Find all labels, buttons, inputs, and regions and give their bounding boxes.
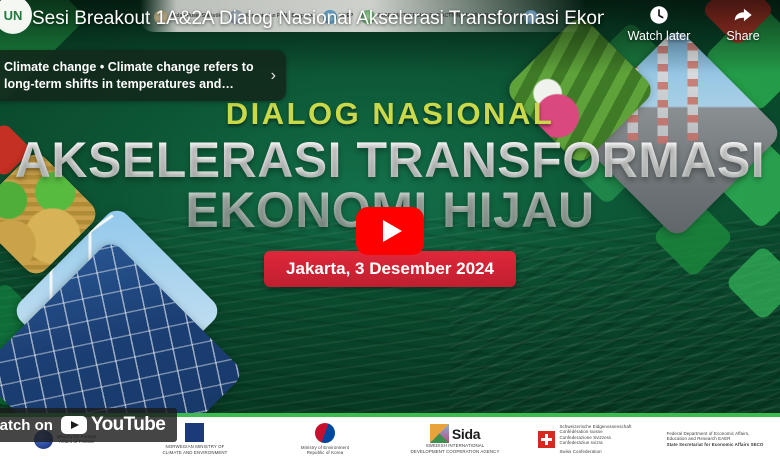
share-label: Share [726, 29, 759, 43]
sponsor-sida: Sida SWEDISH INTERNATIONAL DEVELOPMENT C… [390, 417, 520, 461]
poster-date-badge: Jakarta, 3 Desember 2024 [264, 251, 516, 287]
poster-eyebrow: DIALOG NASIONAL [0, 96, 780, 132]
info-card[interactable]: Climate change • Climate change refers t… [0, 50, 286, 101]
sponsor-label: State Secretariat for Economic Affairs S… [667, 442, 764, 448]
play-triangle-icon [383, 220, 402, 242]
sponsor-label: CLIMATE AND ENVIRONMENT [163, 450, 228, 456]
sponsor-label: NORWEGIAN MINISTRY OF [163, 444, 228, 450]
poster-text-block: DIALOG NASIONAL AKSELERASI TRANSFORMASI … [0, 96, 780, 287]
share-arrow-icon [732, 4, 754, 26]
norway-crest-icon [185, 423, 204, 442]
info-card-text: Climate change • Climate change refers t… [4, 59, 265, 92]
channel-avatar[interactable]: UN [0, 0, 32, 34]
korea-taegeuk-icon [315, 423, 335, 443]
play-button[interactable] [356, 207, 424, 255]
chevron-right-icon: › [271, 67, 276, 85]
sponsor-label: DEVELOPMENT COOPERATION AGENCY [411, 449, 500, 455]
sponsor-swiss: Schweizerische Eidgenossenschaft Confédé… [520, 417, 650, 461]
youtube-logo: YouTube [61, 414, 165, 436]
avatar-glyph: UN [4, 9, 23, 22]
clock-icon [648, 4, 670, 26]
sponsor-label: Confederaziun svizra [559, 440, 631, 446]
watch-on-label: Watch on [0, 417, 53, 434]
youtube-video-player[interactable]: DIALOG NASIONAL AKSELERASI TRANSFORMASI … [0, 0, 780, 461]
poster-title-line1: AKSELERASI TRANSFORMASI [0, 136, 780, 186]
youtube-wordmark: YouTube [91, 414, 165, 436]
player-header: UN Sesi Breakout 1A&2A Dialog Nasional A… [0, 0, 780, 52]
sponsor-label: Republic of Korea [301, 450, 349, 456]
sponsor-label: Swiss Confederation [559, 449, 631, 455]
watch-on-youtube-button[interactable]: Watch on YouTube [0, 408, 177, 442]
header-actions: Watch later Share [622, 4, 780, 43]
sponsor-seco: Federal Department of Economic Affairs, … [650, 417, 780, 461]
sida-logo-icon [430, 424, 449, 443]
share-button[interactable]: Share [706, 4, 780, 43]
sponsor-korea: Ministry of Environment Republic of Kore… [260, 417, 390, 461]
video-title[interactable]: Sesi Breakout 1A&2A Dialog Nasional Akse… [32, 8, 604, 30]
sida-wordmark: Sida [452, 426, 480, 442]
watch-later-button[interactable]: Watch later [622, 4, 696, 43]
swiss-cross-icon [538, 431, 555, 448]
watch-later-label: Watch later [628, 29, 691, 43]
youtube-play-icon [61, 416, 87, 434]
